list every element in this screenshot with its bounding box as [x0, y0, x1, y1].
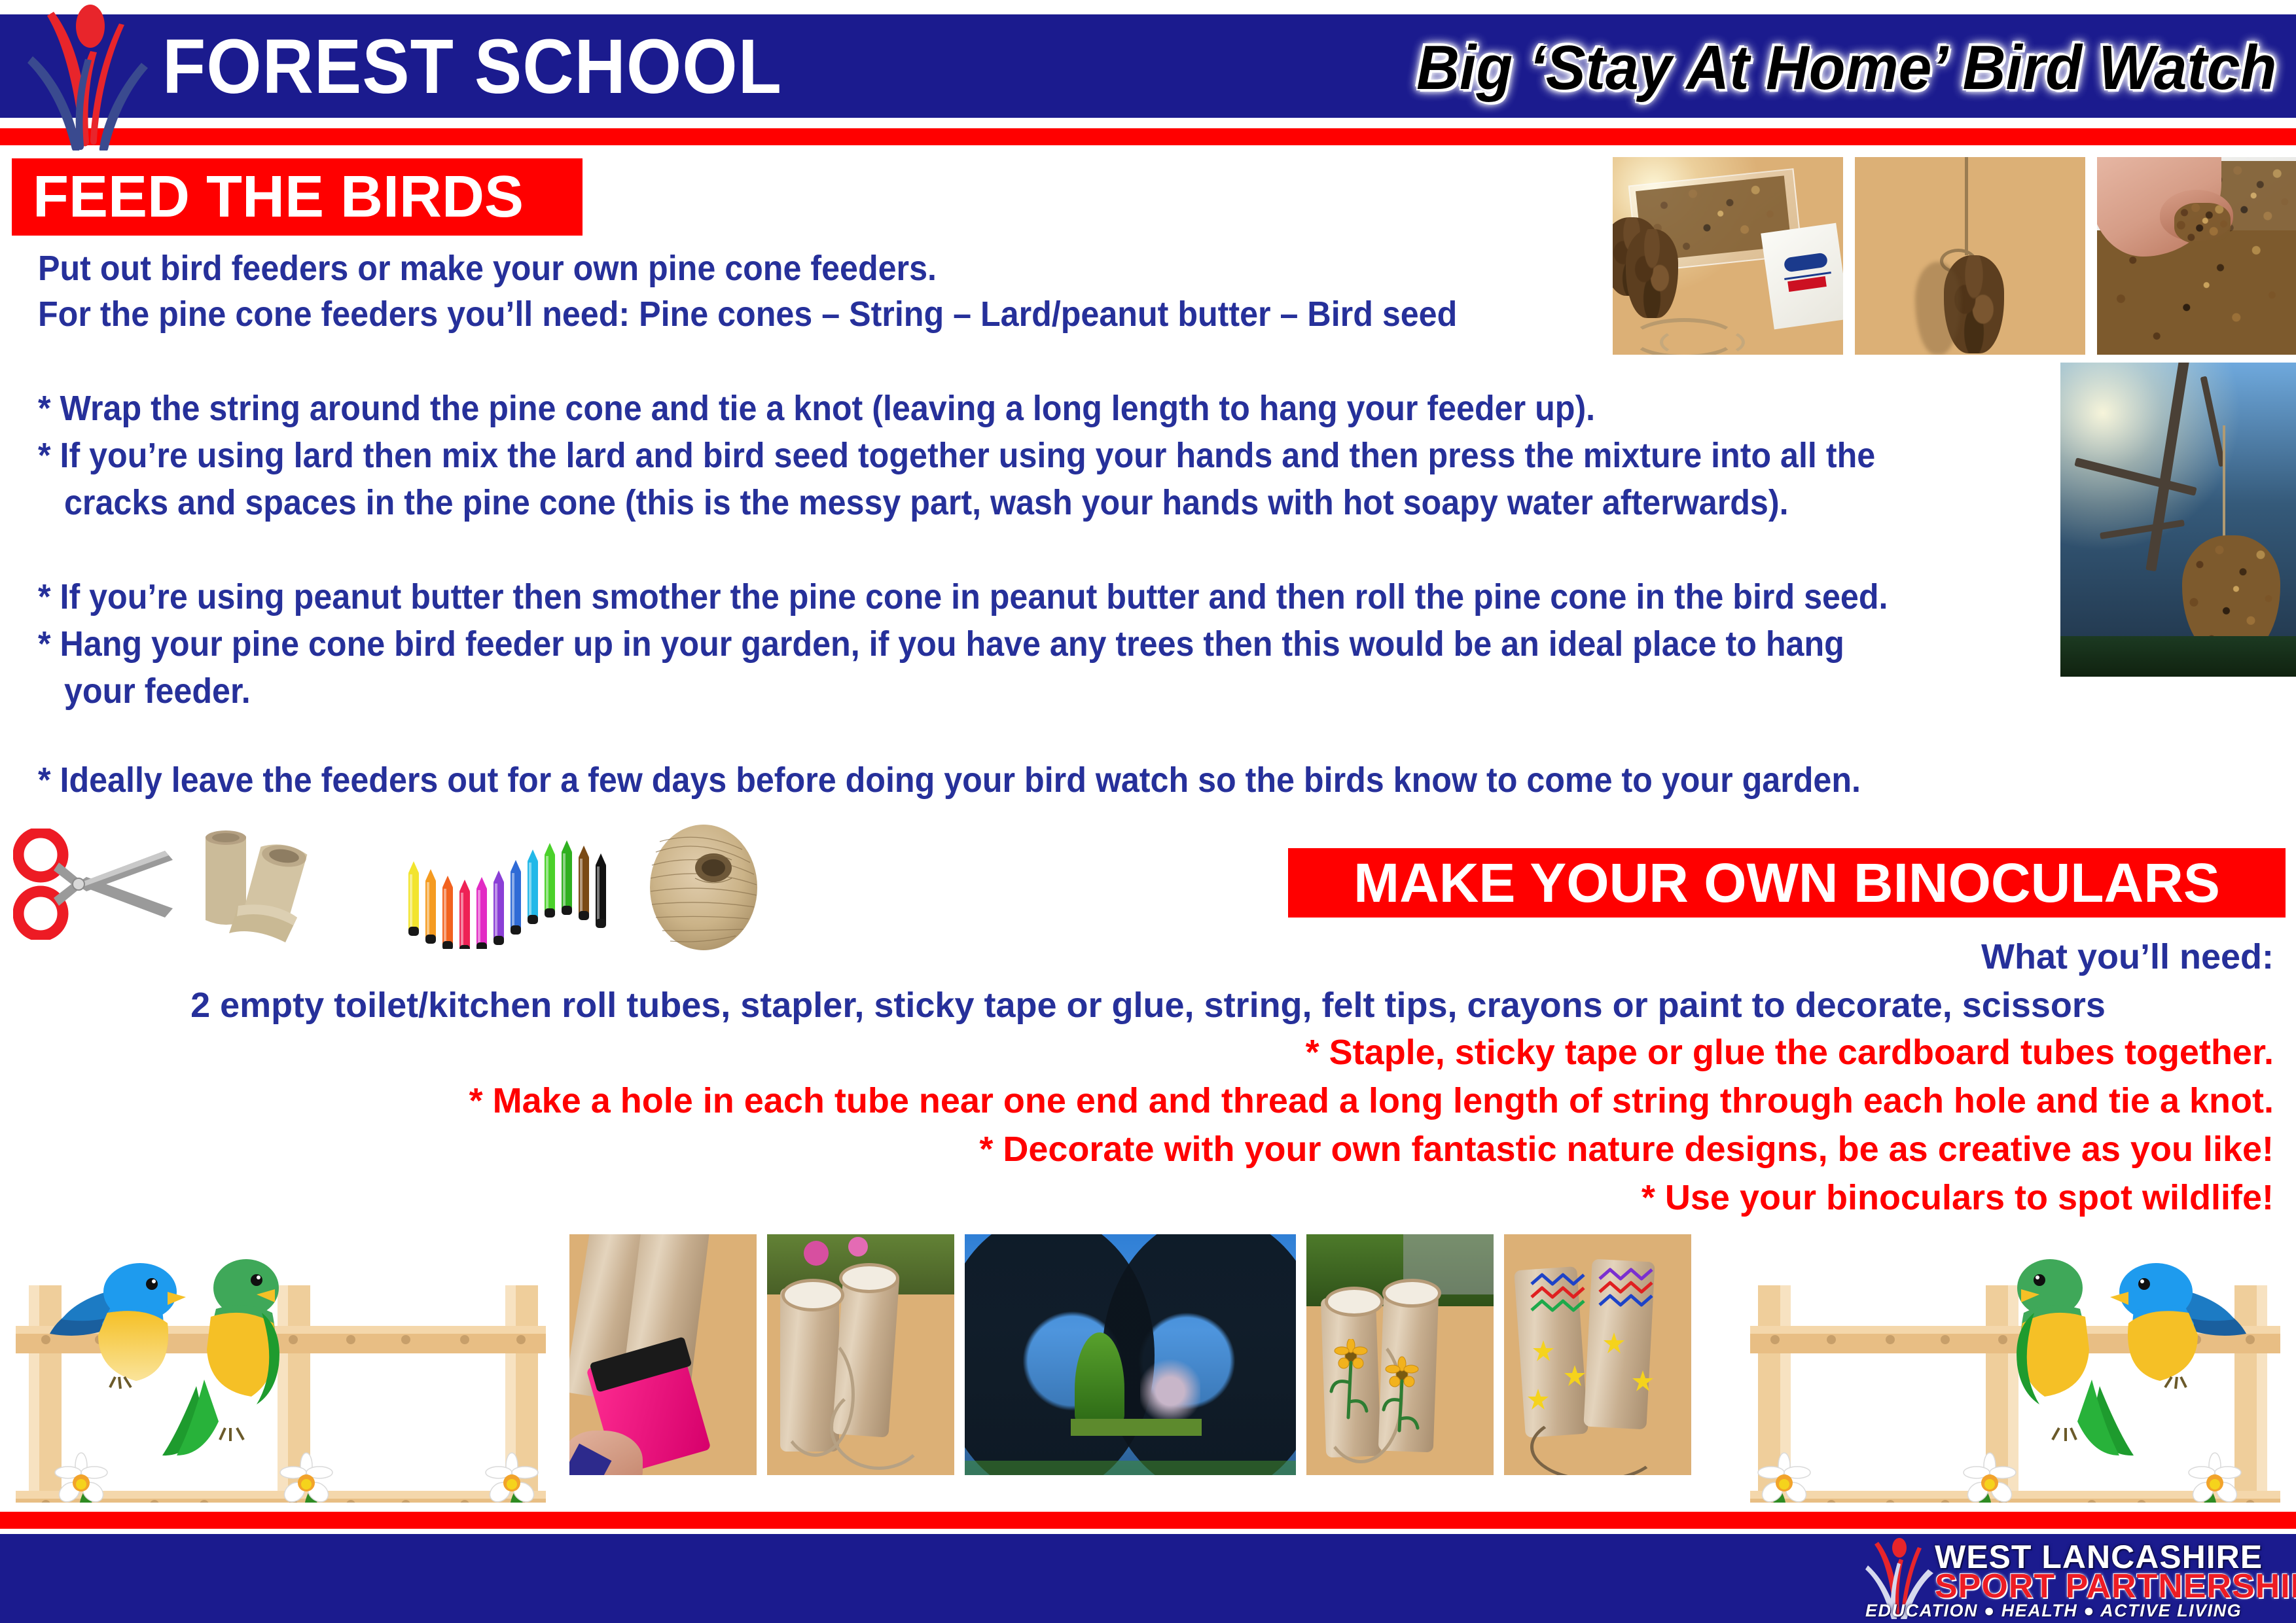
- feed-bullet-2: * If you’re using lard then mix the lard…: [38, 435, 1875, 476]
- wlsp-line-3: EDUCATION ● HEALTH ● ACTIVE LIVING: [1865, 1602, 2242, 1620]
- supplies-list: 2 empty toilet/kitchen roll tubes, stapl…: [0, 984, 2296, 1026]
- forest-school-flame-logo: [13, 0, 164, 151]
- photo-pine-cone-with-string: [1855, 157, 2085, 355]
- binocular-bullet-2: * Make a hole in each tube near one end …: [469, 1080, 2274, 1122]
- photo-hanging-pine-cone-feeder: [2060, 363, 2296, 677]
- page-title: FOREST SCHOOL: [162, 21, 1066, 113]
- binocular-bullet-1: * Staple, sticky tape or glue the cardbo…: [1306, 1031, 2274, 1073]
- binocular-bullet-3: * Decorate with your own fantastic natur…: [979, 1128, 2274, 1170]
- photo-pine-cones-seed-bag-lard: [1613, 157, 1843, 355]
- binocular-bullet-4: * Use your binoculars to spot wildlife!: [1641, 1177, 2274, 1219]
- felt-tip-pens-icon: [403, 831, 619, 949]
- what-you-need-label: What you’ll need:: [1981, 936, 2274, 978]
- photo-decorated-zigzag-binoculars: [1504, 1234, 1691, 1475]
- feed-bullet-1: * Wrap the string around the pine cone a…: [38, 387, 1595, 429]
- feed-the-birds-heading: FEED THE BIRDS: [12, 158, 583, 236]
- intro-line-2: For the pine cone feeders you’ll need: P…: [38, 293, 1457, 335]
- feed-bullet-2-cont: cracks and spaces in the pine cone (this…: [64, 482, 1789, 524]
- birds-on-fence-left: [0, 1215, 576, 1503]
- feed-bullet-3: * If you’re using peanut butter then smo…: [38, 576, 1888, 618]
- header-subtitle: Big ‘Stay At Home’ Bird Watch: [1416, 27, 2276, 109]
- make-binoculars-heading: MAKE YOUR OWN BINOCULARS: [1288, 848, 2286, 918]
- west-lancashire-sport-partnership-logo: WEST LANCASHIRE SPORT PARTNERSHIP EDUCAT…: [1861, 1539, 2280, 1619]
- photo-view-through-binoculars: [965, 1234, 1296, 1475]
- cardboard-tubes-icon: [192, 822, 343, 946]
- wlsp-line-2: SPORT PARTNERSHIP: [1935, 1569, 2296, 1603]
- birds-on-fence-right: [1720, 1215, 2296, 1503]
- ball-of-string-icon: [636, 822, 774, 953]
- feed-bullet-4: * Hang your pine cone bird feeder up in …: [38, 623, 1844, 665]
- photo-tubes-with-string: [767, 1234, 954, 1475]
- photo-hand-mixing-bird-seed: [2097, 157, 2296, 355]
- photo-decorated-flower-binoculars: [1306, 1234, 1494, 1475]
- scissors-icon: [13, 829, 177, 940]
- intro-line-1: Put out bird feeders or make your own pi…: [38, 247, 937, 289]
- feed-bullet-5: * Ideally leave the feeders out for a fe…: [38, 759, 1861, 801]
- photo-stapling-tubes: [569, 1234, 757, 1475]
- footer-red-rule: [0, 1512, 2296, 1529]
- feed-bullet-4-cont: your feeder.: [64, 670, 251, 712]
- header-red-rule: [0, 128, 2296, 145]
